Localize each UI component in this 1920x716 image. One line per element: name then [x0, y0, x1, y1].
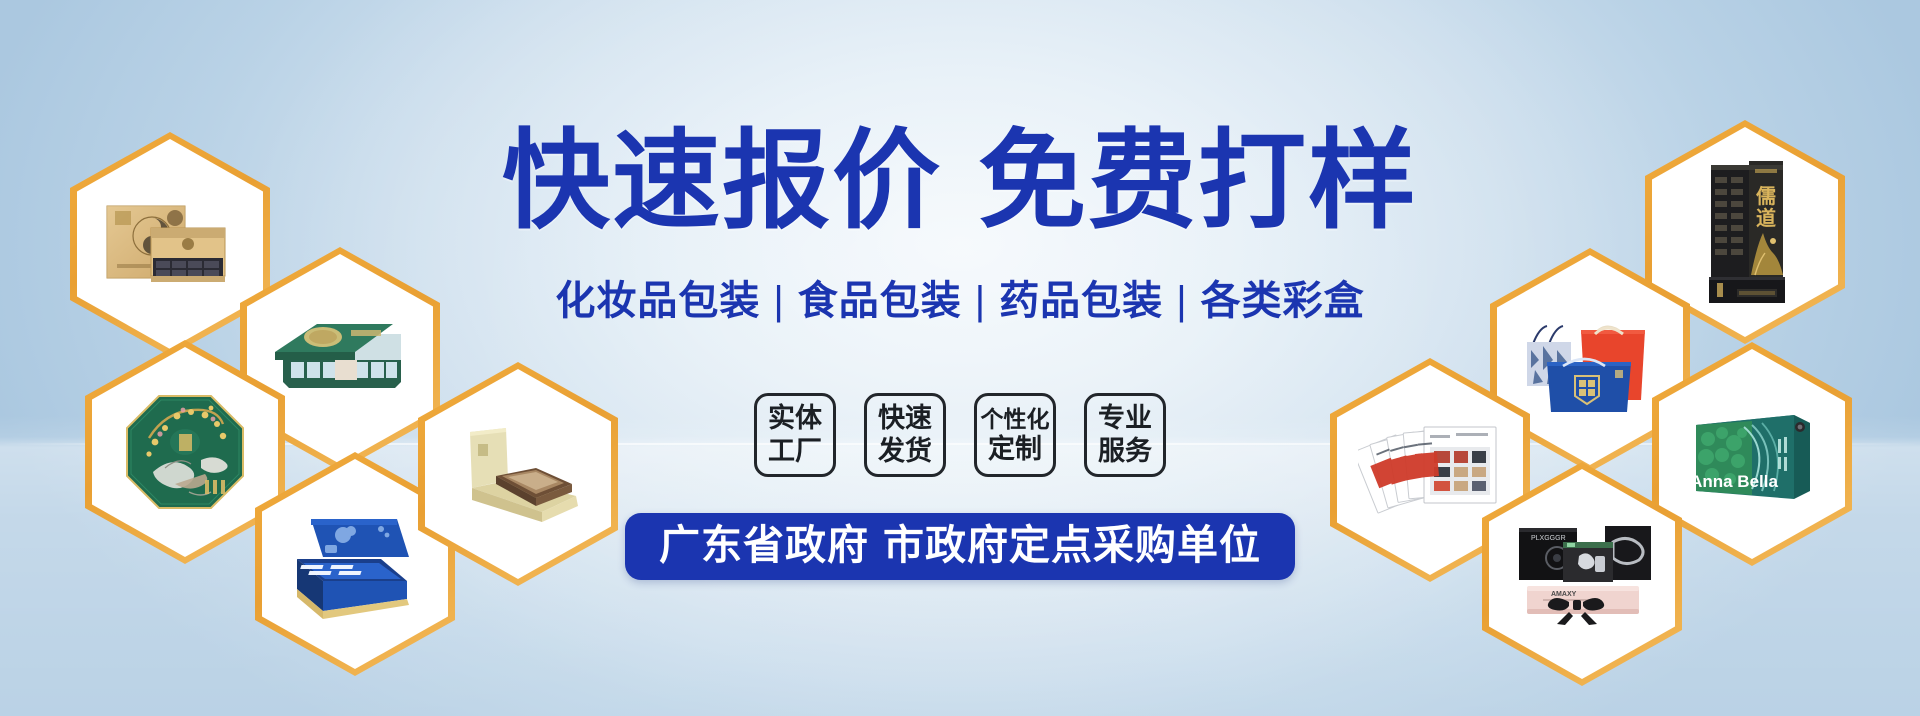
feature-badge-customization: 个性化 定制: [974, 393, 1056, 477]
svg-text:AMAXY: AMAXY: [1551, 591, 1577, 598]
gov-pill-part1: 广东省政府: [659, 522, 869, 568]
subtitle-separator: |: [760, 277, 797, 325]
subtitle-item-1: 食品包装: [798, 279, 962, 323]
feature-badge-line1: 个性化: [981, 405, 1050, 433]
subtitle-item-3: 各类彩盒: [1201, 279, 1365, 323]
feature-badge-line2: 定制: [988, 433, 1042, 466]
feature-badge-fast-shipping: 快速 发货: [864, 393, 946, 477]
product-hex-electronics-pink-box: PLXGGGR AMAXY: [1482, 462, 1682, 686]
feature-badge-line1: 专业: [1098, 402, 1152, 435]
subtitle-item-0: 化妆品包装: [555, 279, 760, 323]
subtitle-item-2: 药品包装: [999, 279, 1163, 323]
feature-badge-line1: 快速: [878, 402, 932, 435]
feature-badge-line2: 工厂: [768, 435, 822, 468]
svg-text:PLXGGGR: PLXGGGR: [1531, 535, 1566, 542]
feature-badge-line1: 实体: [768, 402, 822, 435]
feature-badge-line2: 服务: [1098, 435, 1152, 468]
feature-badge-service: 专业 服务: [1084, 393, 1166, 477]
government-procurement-badge: 广东省政府市政府定点采购单位: [625, 513, 1295, 580]
gov-pill-part2: 市政府定点采购单位: [883, 522, 1261, 568]
headline-part1: 快速报价: [502, 120, 942, 241]
feature-badge-factory: 实体 工厂: [754, 393, 836, 477]
headline-part2: 免费打样: [978, 120, 1418, 241]
subtitle-separator: |: [1163, 277, 1200, 325]
page-title: 快速报价免费打样: [0, 123, 1920, 240]
promo-banner: 金色礼盒: [0, 0, 1920, 716]
subtitle-category-list: 化妆品包装|食品包装|药品包装|各类彩盒: [0, 277, 1920, 325]
feature-badge-line2: 发货: [878, 435, 932, 468]
feature-badge-list: 实体 工厂 快速 发货 个性化 定制 专业 服务: [0, 393, 1920, 477]
subtitle-separator: |: [962, 277, 999, 325]
